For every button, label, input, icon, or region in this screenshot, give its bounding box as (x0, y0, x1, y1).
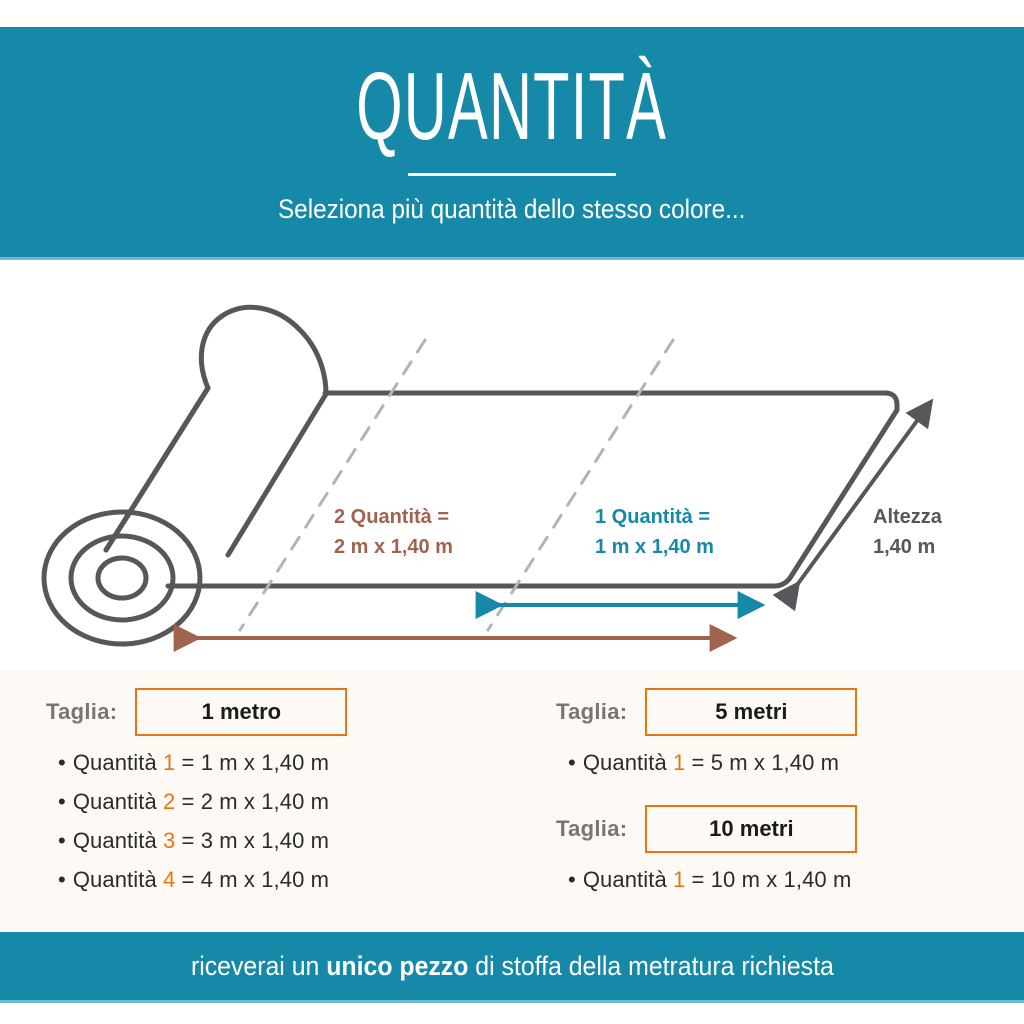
label-two-quantity: 2 Quantità = 2 m x 1,40 m (334, 506, 453, 558)
taglia-row-5-metri: Taglia: 5 metri (556, 688, 1024, 736)
list-item-prefix: Quantità (73, 789, 163, 814)
list-item: •Quantità 4 = 4 m x 1,40 m (58, 867, 512, 893)
list-item: •Quantità 2 = 2 m x 1,40 m (58, 789, 512, 815)
roll-ring-outer (44, 512, 200, 644)
bullet-icon: • (568, 750, 576, 775)
list-item-suffix: = 4 m x 1,40 m (175, 867, 329, 892)
list-item-prefix: Quantità (583, 867, 673, 892)
list-item: •Quantità 1 = 1 m x 1,40 m (58, 750, 512, 776)
label-height-line2: 1,40 m (873, 536, 935, 558)
list-item-suffix: = 3 m x 1,40 m (175, 828, 329, 853)
footer-text-after: di stoffa della metratura richiesta (468, 951, 833, 981)
taglia-label: Taglia: (46, 699, 117, 725)
list-item-qty: 1 (673, 867, 685, 892)
roll-ring-middle (71, 536, 173, 620)
fabric-roll-body (106, 297, 326, 555)
infographic-page: QUANTITÀ Seleziona più quantità dello st… (0, 0, 1024, 1024)
bullet-icon: • (58, 789, 66, 814)
quantity-list-right-a: •Quantità 1 = 5 m x 1,40 m (556, 750, 1024, 776)
list-item-qty: 4 (163, 867, 175, 892)
label-one-quantity-line2: 1 m x 1,40 m (595, 536, 714, 558)
footer-text-before: riceverai un (191, 951, 326, 981)
quantity-list-right-b: •Quantità 1 = 10 m x 1,40 m (556, 867, 1024, 893)
footer-text-bold: unico pezzo (326, 951, 468, 981)
taglia-row-1-metro: Taglia: 1 metro (46, 688, 512, 736)
header-subtitle: Seleziona più quantità dello stesso colo… (278, 194, 745, 225)
label-height-line1: Altezza (873, 506, 943, 528)
list-item: •Quantità 3 = 3 m x 1,40 m (58, 828, 512, 854)
size-column-right: Taglia: 5 metri •Quantità 1 = 5 m x 1,40… (512, 670, 1024, 932)
quantity-list-left: •Quantità 1 = 1 m x 1,40 m •Quantità 2 =… (46, 750, 512, 893)
spacer (556, 789, 1024, 805)
bullet-icon: • (568, 867, 576, 892)
footer-text: riceverai un unico pezzo di stoffa della… (191, 951, 834, 982)
list-item: •Quantità 1 = 5 m x 1,40 m (568, 750, 1024, 776)
taglia-label: Taglia: (556, 816, 627, 842)
taglia-label: Taglia: (556, 699, 627, 725)
bullet-icon: • (58, 750, 66, 775)
bullet-icon: • (58, 867, 66, 892)
list-item-qty: 1 (163, 750, 175, 775)
list-item-qty: 2 (163, 789, 175, 814)
list-item-prefix: Quantità (73, 750, 163, 775)
roll-spiral-end (44, 512, 200, 644)
header-banner: QUANTITÀ Seleziona più quantità dello st… (0, 27, 1024, 257)
label-two-quantity-line2: 2 m x 1,40 m (334, 536, 453, 558)
footer-banner: riceverai un unico pezzo di stoffa della… (0, 932, 1024, 1000)
list-item-prefix: Quantità (73, 867, 163, 892)
list-item-suffix: = 1 m x 1,40 m (175, 750, 329, 775)
footer-bottom-rule (0, 1000, 1024, 1003)
taglia-value-box[interactable]: 10 metri (645, 805, 857, 853)
fabric-sheet-outline (168, 393, 897, 586)
size-column-left: Taglia: 1 metro •Quantità 1 = 1 m x 1,40… (0, 670, 512, 932)
label-height: Altezza 1,40 m (873, 506, 943, 558)
label-one-quantity: 1 Quantità = 1 m x 1,40 m (595, 506, 714, 558)
bullet-icon: • (58, 828, 66, 853)
page-title: QUANTITÀ (357, 59, 668, 155)
roll-ring-inner (98, 558, 146, 598)
list-item: •Quantità 1 = 10 m x 1,40 m (568, 867, 1024, 893)
fabric-roll-diagram: 2 Quantità = 2 m x 1,40 m 1 Quantità = 1… (0, 260, 1024, 670)
label-two-quantity-line1: 2 Quantità = (334, 506, 449, 528)
list-item-suffix: = 2 m x 1,40 m (175, 789, 329, 814)
list-item-suffix: = 10 m x 1,40 m (685, 867, 851, 892)
taglia-row-10-metri: Taglia: 10 metri (556, 805, 1024, 853)
list-item-suffix: = 5 m x 1,40 m (685, 750, 839, 775)
list-item-prefix: Quantità (73, 828, 163, 853)
label-one-quantity-line1: 1 Quantità = (595, 506, 710, 528)
list-item-prefix: Quantità (583, 750, 673, 775)
header-divider (408, 173, 616, 176)
taglia-value-box[interactable]: 1 metro (135, 688, 347, 736)
list-item-qty: 1 (673, 750, 685, 775)
list-item-qty: 3 (163, 828, 175, 853)
size-table-section: Taglia: 1 metro •Quantità 1 = 1 m x 1,40… (0, 670, 1024, 932)
taglia-value-box[interactable]: 5 metri (645, 688, 857, 736)
